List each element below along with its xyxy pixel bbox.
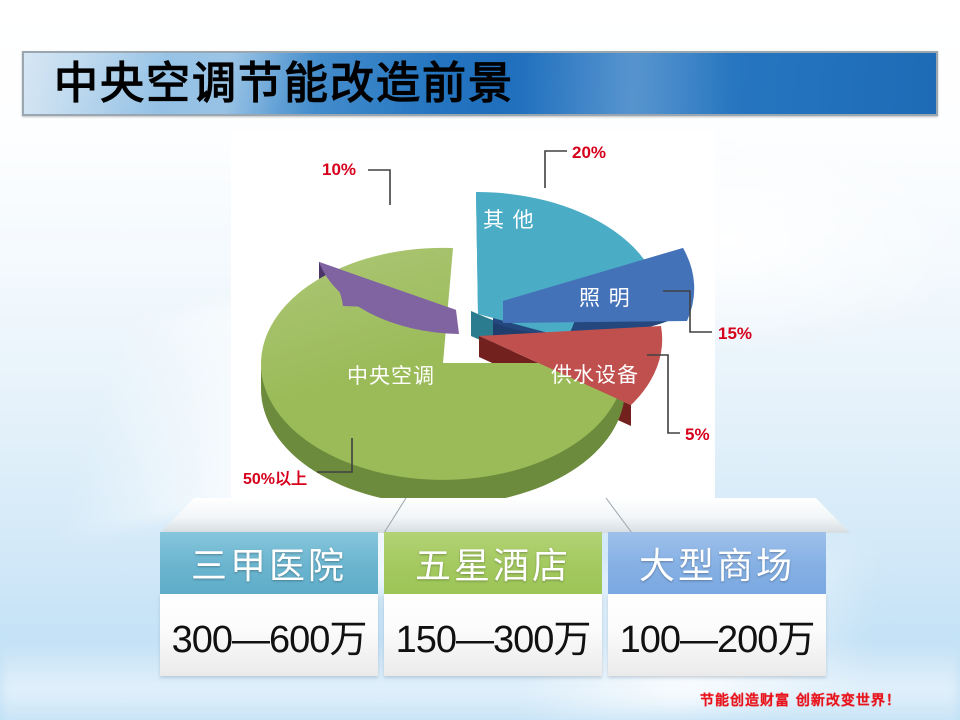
page-title: 中央空调节能改造前景 xyxy=(24,53,936,114)
title-banner: 中央空调节能改造前景 xyxy=(22,51,938,116)
callout-percent-zhaoming: 15% xyxy=(718,324,752,344)
table-header-3: 大型商场 xyxy=(608,532,826,594)
slice-label-gongshuishebei: 供水设备 xyxy=(551,363,639,387)
slice-label-jidianshebei: 机电设备 xyxy=(346,208,434,232)
table-value-3: 100—200万 xyxy=(608,594,826,676)
table-column-3[interactable]: 大型商场 100—200万 xyxy=(608,532,826,676)
callout-percent-qita: 20% xyxy=(572,143,606,163)
table-value-2: 150—300万 xyxy=(384,594,602,676)
slice-label-zhongyangkongtiao: 中央空调 xyxy=(347,364,435,388)
slide-canvas: 中央空调节能改造前景 xyxy=(0,0,960,720)
comparison-table: 三甲医院 300—600万 五星酒店 150—300万 大型商场 100—200… xyxy=(160,498,850,684)
callout-percent-gongshuishebei: 5% xyxy=(685,425,710,445)
table-column-2[interactable]: 五星酒店 150—300万 xyxy=(384,532,602,676)
table-column-1[interactable]: 三甲医院 300—600万 xyxy=(160,532,378,676)
table-header-1: 三甲医院 xyxy=(160,532,378,594)
table-top-face xyxy=(160,498,850,533)
slice-label-qita: 其 他 xyxy=(483,208,535,232)
callout-percent-jidianshebei: 10% xyxy=(322,160,356,180)
callout-percent-zhongyangkongtiao: 50%以上 xyxy=(243,465,307,489)
table-header-2: 五星酒店 xyxy=(384,532,602,594)
pie-chart-svg: 机电设备 其 他 照 明 供水设备 中央空调 xyxy=(231,131,715,505)
slice-label-zhaoming: 照 明 xyxy=(579,286,631,310)
slice-side-qita-edge xyxy=(471,311,478,339)
table-value-1: 300—600万 xyxy=(160,594,378,676)
footer-slogan: 节能创造财富 创新改变世界！ xyxy=(700,690,901,710)
pie-chart: 机电设备 其 他 照 明 供水设备 中央空调 xyxy=(231,131,715,505)
